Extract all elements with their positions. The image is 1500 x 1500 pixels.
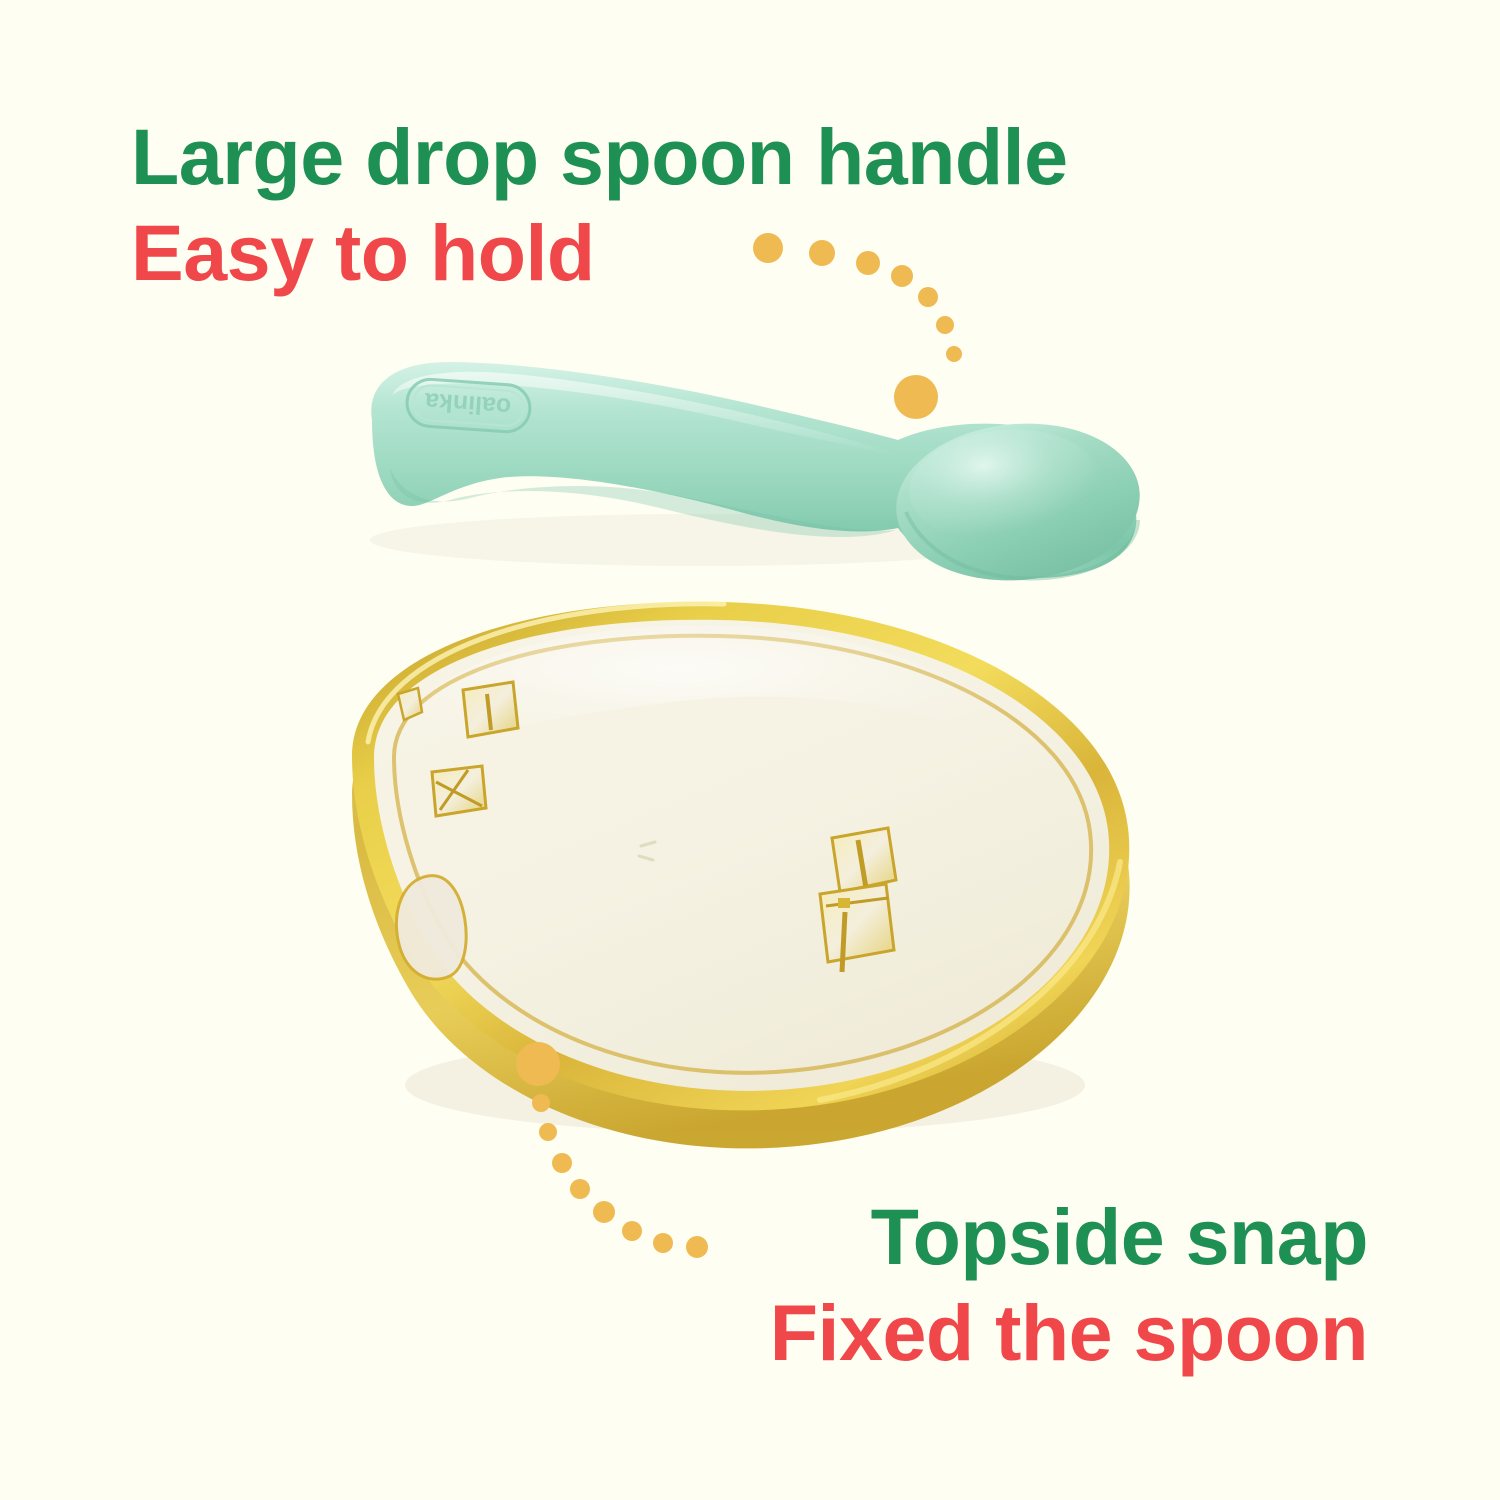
infographic-canvas: oalinka Large drop spoon handle Easy to … [0,0,1500,1500]
callout-top-line1: Large drop spoon handle [131,117,1068,196]
spoon-illustration: oalinka [370,362,1146,590]
callout-bottom-line2: Fixed the spoon [770,1293,1368,1372]
arc-dot [894,375,938,419]
arc-dot [686,1236,708,1258]
arc-dot [918,287,938,307]
arc-dot [809,240,835,266]
arc-dot [570,1179,590,1199]
arc-dot [653,1233,673,1253]
lid-illustration [352,602,1130,1149]
arc-dot [552,1153,572,1173]
arc-dot [936,316,954,334]
callout-top-line2: Easy to hold [131,213,595,292]
arc-dot [946,346,962,362]
arc-dot [856,251,880,275]
arc-dot [622,1221,642,1241]
arc-dot [539,1123,557,1141]
arc-dot [516,1042,560,1086]
arc-dot [532,1094,550,1112]
arc-dot [593,1201,615,1223]
lid-snap-clip-left [432,766,486,816]
lid-side-notch [396,876,466,980]
arc-dot [891,265,913,287]
arc-dot [753,233,783,263]
lid-snap-clip-upper [463,682,518,737]
dotted-arc-to-spoon-handle [753,233,962,419]
callout-bottom-line1: Topside snap [871,1197,1368,1276]
